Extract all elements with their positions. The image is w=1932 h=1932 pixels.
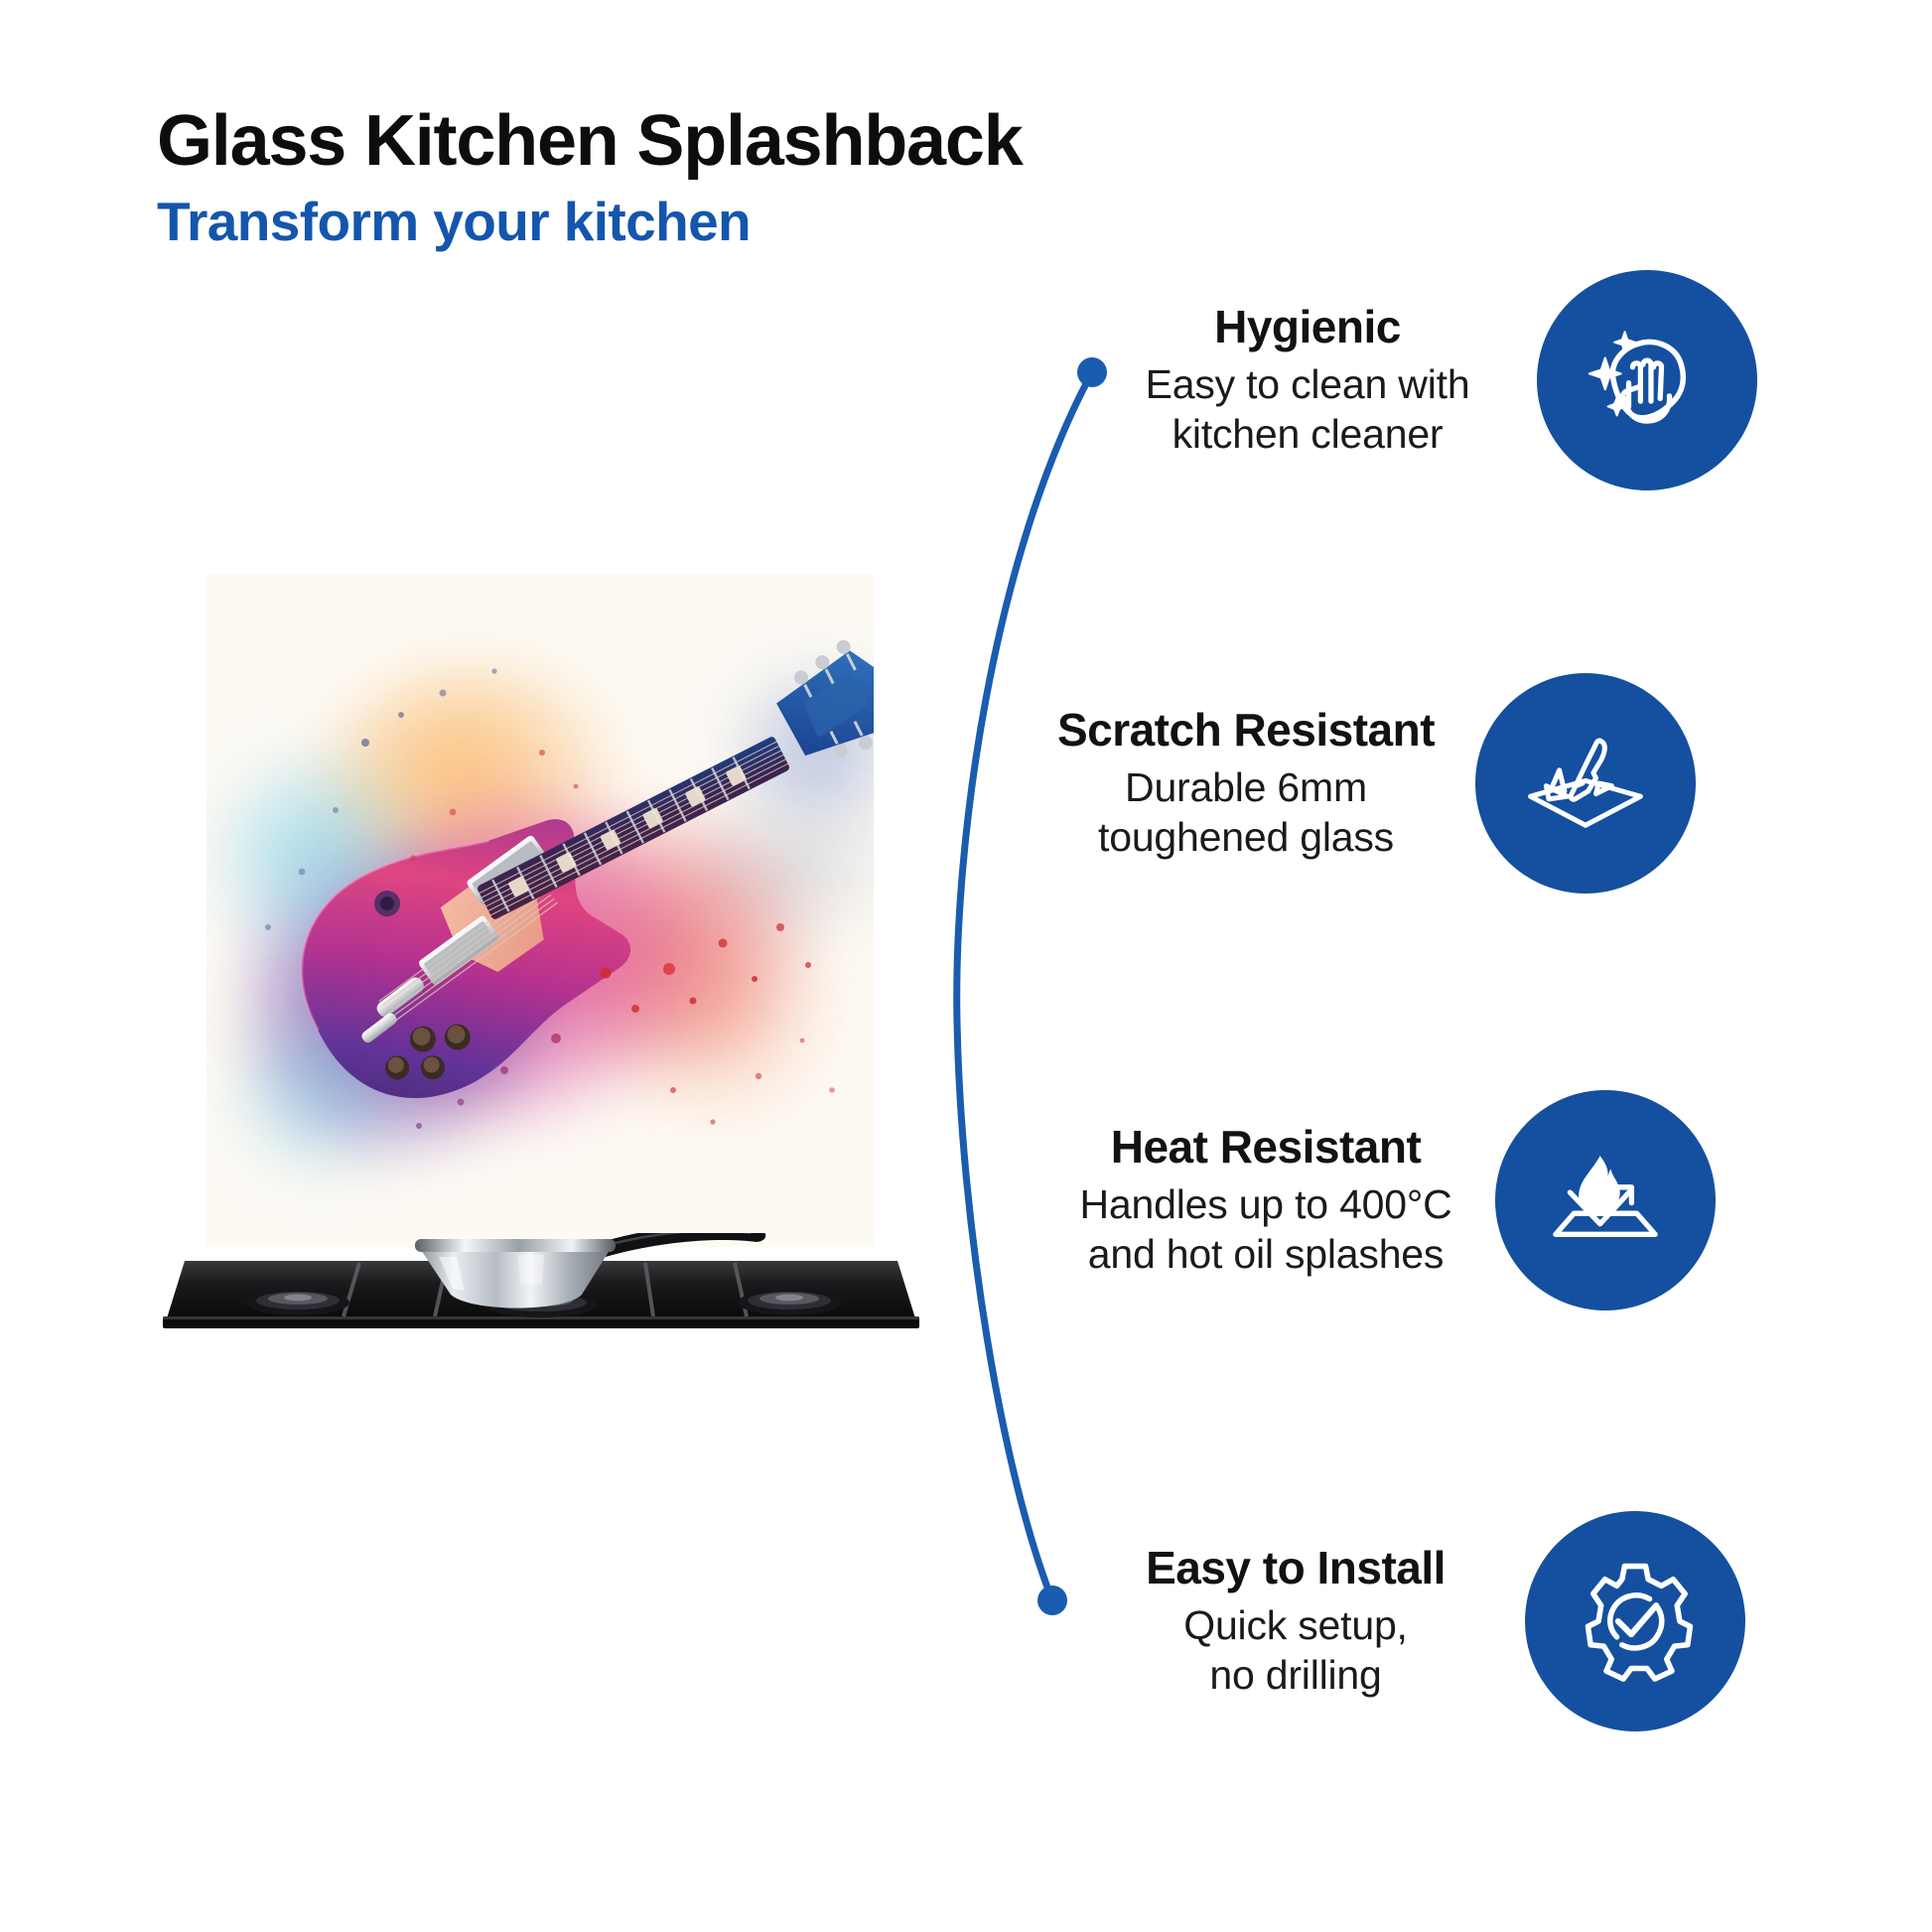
wiping-hand-sparkle-icon (1582, 315, 1713, 446)
feature-text: Heat Resistant Handles up to 400°C and h… (1058, 1122, 1495, 1280)
feature-title: Hygienic (1100, 302, 1515, 352)
page-subtitle: Transform your kitchen (157, 193, 1249, 250)
feature-title: Scratch Resistant (1038, 705, 1453, 756)
feature-desc-line: Easy to clean with (1100, 359, 1515, 409)
knife-scratch-surface-icon (1520, 718, 1651, 849)
feature-desc-line: Quick setup, (1088, 1600, 1503, 1650)
feature-desc-line: kitchen cleaner (1100, 409, 1515, 459)
feature-text: Hygienic Easy to clean with kitchen clea… (1100, 302, 1537, 460)
curved-pointer-line (953, 328, 1191, 1648)
header-block: Glass Kitchen Splashback Transform your … (157, 103, 1249, 251)
feature-desc-line: Handles up to 400°C (1058, 1179, 1473, 1229)
feature-easy-to-install: Easy to Install Quick setup, no drilling (1088, 1511, 1745, 1731)
feature-description: Handles up to 400°C and hot oil splashes (1058, 1179, 1473, 1279)
feature-desc-line: toughened glass (1038, 812, 1453, 862)
feature-text: Scratch Resistant Durable 6mm toughened … (1038, 705, 1475, 863)
feature-desc-line: no drilling (1088, 1650, 1503, 1700)
product-scene (149, 566, 933, 1340)
gear-check-icon (1570, 1556, 1701, 1687)
feature-icon-badge (1495, 1090, 1716, 1311)
guitar-artwork (207, 574, 874, 1247)
feature-icon-badge (1537, 270, 1757, 490)
flame-deflect-surface-icon (1540, 1135, 1671, 1266)
feature-desc-line: Durable 6mm (1038, 762, 1453, 812)
feature-icon-badge (1475, 673, 1696, 894)
feature-description: Quick setup, no drilling (1088, 1600, 1503, 1700)
feature-icon-badge (1525, 1511, 1745, 1731)
glass-splashback-panel (207, 574, 874, 1247)
gas-hob (149, 1233, 933, 1342)
feature-text: Easy to Install Quick setup, no drilling (1088, 1543, 1525, 1701)
feature-title: Easy to Install (1088, 1543, 1503, 1593)
connector-dot-bottom (1037, 1586, 1067, 1615)
page-title: Glass Kitchen Splashback (157, 103, 1249, 179)
feature-description: Easy to clean with kitchen cleaner (1100, 359, 1515, 459)
feature-hygienic: Hygienic Easy to clean with kitchen clea… (1100, 270, 1757, 490)
feature-title: Heat Resistant (1058, 1122, 1473, 1173)
feature-desc-line: and hot oil splashes (1058, 1229, 1473, 1279)
infographic-canvas: Glass Kitchen Splashback Transform your … (0, 0, 1932, 1932)
feature-scratch-resistant: Scratch Resistant Durable 6mm toughened … (1038, 673, 1696, 894)
feature-heat-resistant: Heat Resistant Handles up to 400°C and h… (1058, 1090, 1716, 1311)
feature-description: Durable 6mm toughened glass (1038, 762, 1453, 862)
pan-handle (598, 1233, 765, 1257)
